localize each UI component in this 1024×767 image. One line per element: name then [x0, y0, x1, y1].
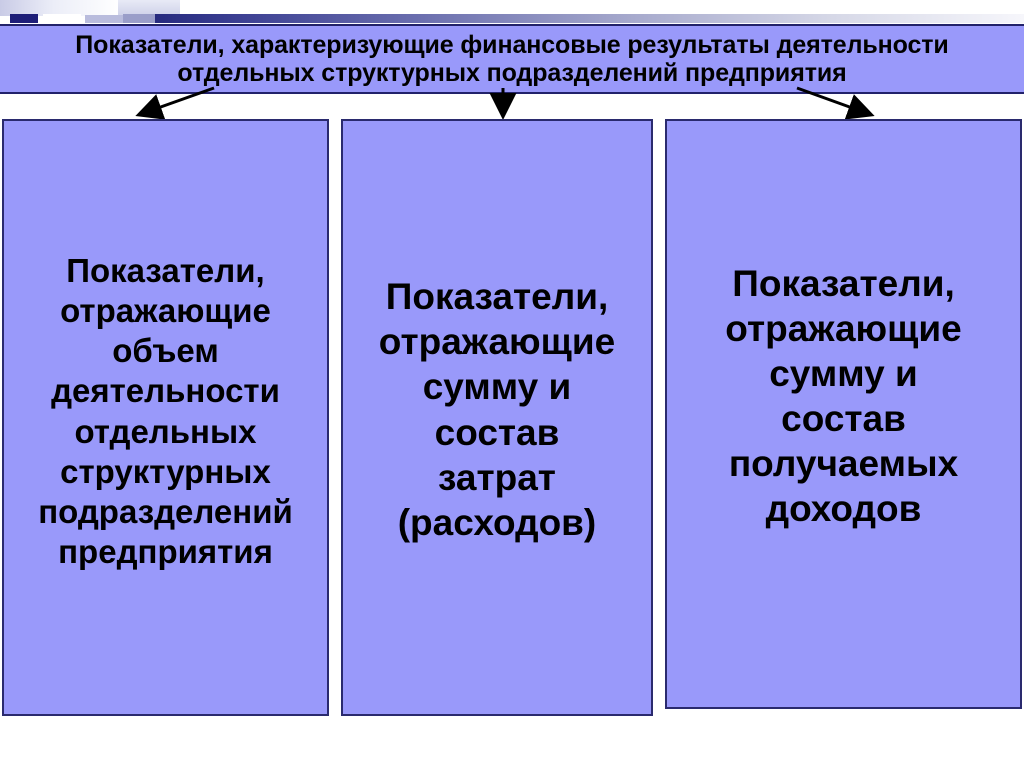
decorative-top-strip [0, 0, 1024, 24]
decorative-square-navy [10, 14, 38, 23]
panel-volume-text: Показатели, отражающие объем деятельност… [30, 251, 301, 573]
panel-costs-text: Показатели, отражающие сумму и состав за… [371, 274, 623, 545]
decorative-square-muted [123, 14, 155, 23]
panel-income-indicators[interactable]: Показатели, отражающие сумму и состав по… [665, 119, 1022, 709]
panel-costs-indicators[interactable]: Показатели, отражающие сумму и состав за… [341, 119, 653, 716]
panel-volume-indicators[interactable]: Показатели, отражающие объем деятельност… [2, 119, 329, 716]
decorative-square-pale [85, 15, 123, 23]
decorative-square-white [43, 14, 81, 23]
header-banner: Показатели, характеризующие финансовые р… [0, 24, 1024, 94]
page-title: Показатели, характеризующие финансовые р… [22, 31, 1002, 87]
decorative-gradient-rule [155, 14, 1024, 23]
panel-income-text: Показатели, отражающие сумму и состав по… [717, 261, 969, 532]
